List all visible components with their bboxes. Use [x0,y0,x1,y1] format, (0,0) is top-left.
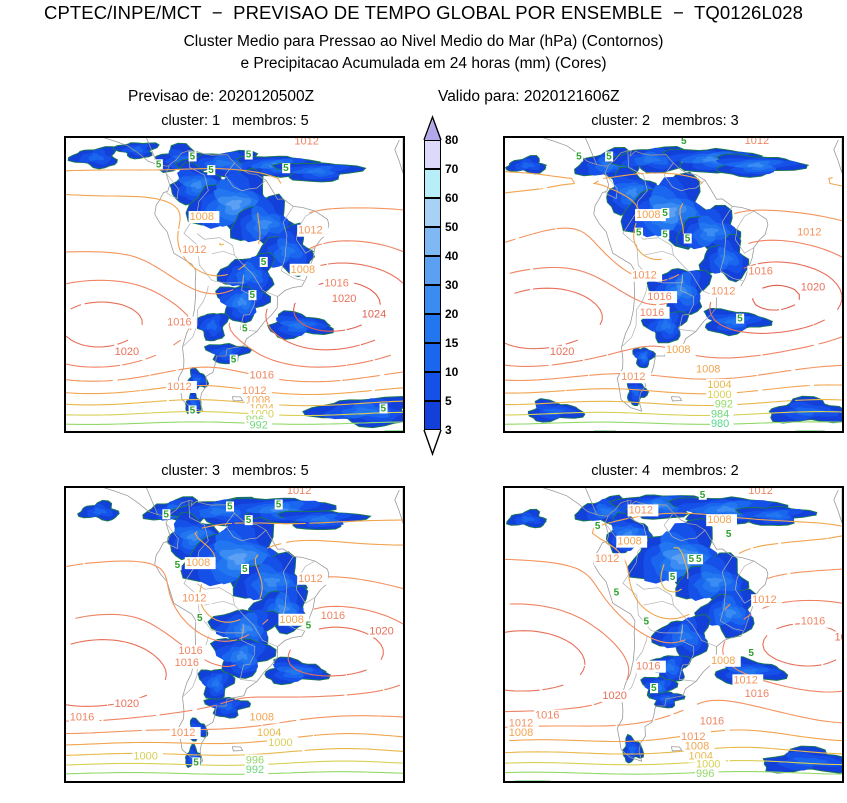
lon-tick-100W: 100W [513,782,535,783]
lon-tick-90W: 90W [552,782,570,783]
svg-text:1012: 1012 [294,138,318,147]
lon-tick-mark [636,781,637,783]
colorbar-band-15 [424,314,441,343]
lat-tick-mark [503,275,505,276]
svg-text:1012: 1012 [595,553,619,565]
lat-tick-mark [64,527,66,528]
lat-tick-mark [64,372,66,373]
lon-tick-80W: 80W [590,432,608,433]
lon-tick-30W: 30W [777,432,795,433]
svg-text:5: 5 [685,234,691,245]
lon-tick-mark [85,431,86,433]
lat-tick-mark [64,566,66,567]
svg-text:1016: 1016 [178,645,202,657]
svg-text:1012: 1012 [171,727,195,739]
panel-title-cluster-3: cluster: 3 membros: 5 [60,463,410,479]
lat-tick-mark [64,683,66,684]
lat-tick-mark [64,722,66,723]
svg-text:1016: 1016 [700,715,724,727]
lat-tick-mark [64,625,66,626]
lat-tick-mark [64,703,66,704]
lon-tick-50W: 50W [263,432,281,433]
map-graphics-cluster-2: 1012100810121012101610161016102010201008… [505,138,842,431]
lat-tick-mark [64,605,66,606]
svg-text:5: 5 [576,151,582,162]
lon-tick-mark [347,781,348,783]
svg-text:5: 5 [606,151,612,162]
colorbar-band-60 [424,169,441,198]
precipitation-colorbar: 35101520304050607080 [424,140,441,430]
colorbar-edge-left [424,140,425,430]
svg-text:1020: 1020 [115,346,139,358]
lon-tick-90W: 90W [113,432,131,433]
lat-tick-mark [64,392,66,393]
lon-tick-20W: 20W [375,782,393,783]
lat-tick-mark [64,781,66,782]
svg-text:5: 5 [381,403,387,414]
colorbar-band-3 [424,401,441,430]
lon-tick-mark [674,431,675,433]
valid-for-label: Valido para: 2020121606Z [438,88,620,106]
colorbar-band-50 [424,198,441,227]
svg-text:5: 5 [208,165,214,176]
precipitation-shading [506,147,843,424]
lat-tick-mark [64,333,66,334]
lon-tick-100W: 100W [513,432,535,433]
lon-tick-mark [524,431,525,433]
subtitle-line-2: e Precipitacao Acumulada em 24 horas (mm… [0,55,847,73]
svg-text:5: 5 [249,290,255,301]
svg-text:5: 5 [700,490,706,501]
lat-tick-mark [64,761,66,762]
map-panel-cluster-2[interactable]: 1012100810121012101610161016102010201008… [503,136,844,433]
colorbar-under-arrow [425,430,441,453]
svg-text:5: 5 [227,501,233,512]
map-panel-cluster-3[interactable]: 1012100810121012100810161020101610161020… [64,486,405,783]
lat-tick-mark [503,216,505,217]
svg-text:1012: 1012 [711,285,735,297]
lat-tick-mark [503,664,505,665]
svg-text:1008: 1008 [666,344,690,356]
lon-tick-mark [347,431,348,433]
svg-text:5: 5 [748,648,754,659]
lon-tick-mark [561,431,562,433]
lon-tick-mark [599,431,600,433]
lon-tick-80W: 80W [151,432,169,433]
lon-tick-mark [235,431,236,433]
svg-text:1016: 1016 [748,266,772,278]
svg-text:5: 5 [283,163,289,174]
svg-text:5: 5 [156,159,162,170]
svg-text:1008: 1008 [636,209,660,221]
svg-text:5: 5 [614,587,620,598]
colorbar-label-40: 40 [445,249,458,263]
lat-tick-mark [503,294,505,295]
panel-title-cluster-1: cluster: 1 membros: 5 [60,113,410,129]
svg-text:5: 5 [306,621,312,632]
lon-tick-20W: 20W [814,432,832,433]
lon-tick-40W: 40W [740,432,758,433]
lon-tick-40W: 40W [301,782,319,783]
svg-text:1020: 1020 [332,293,356,305]
svg-text:1016: 1016 [324,277,348,289]
lon-tick-mark [599,781,600,783]
lon-tick-60W: 60W [665,432,683,433]
svg-text:1008: 1008 [696,363,720,375]
lat-tick-mark [503,547,505,548]
svg-text:1012: 1012 [298,573,322,585]
svg-text:5: 5 [242,564,248,575]
lat-tick-mark [64,488,66,489]
lon-tick-mark [197,431,198,433]
svg-text:1008: 1008 [186,557,210,569]
svg-text:1012: 1012 [621,371,645,383]
lat-tick-mark [503,177,505,178]
lat-tick-mark [64,547,66,548]
svg-text:1012: 1012 [287,488,311,497]
lon-tick-mark [636,431,637,433]
map-graphics-cluster-4: 1012101210081008101210121016102010161008… [505,488,842,781]
lat-tick-mark [64,177,66,178]
svg-text:1012: 1012 [752,594,776,606]
lat-tick-mark [503,703,505,704]
lat-tick-mark [503,158,505,159]
lon-tick-50W: 50W [702,432,720,433]
forecast-from-label: Previsao de: 2020120500Z [128,88,314,106]
subtitle-line-1: Cluster Medio para Pressao ao Nivel Medi… [0,33,847,51]
svg-text:5: 5 [261,257,267,268]
svg-text:1012: 1012 [733,674,757,686]
lat-tick-mark [503,761,505,762]
svg-text:1016: 1016 [535,709,559,721]
colorbar-label-50: 50 [445,220,458,234]
lon-tick-60W: 60W [226,782,244,783]
svg-text:5: 5 [670,572,676,583]
lat-tick-mark [503,138,505,139]
svg-text:1016: 1016 [167,317,191,329]
precipitation-shading [507,495,843,773]
svg-text:1008: 1008 [291,264,315,276]
svg-text:980: 980 [711,418,729,430]
lon-tick-70W: 70W [627,432,645,433]
lat-tick-mark [64,255,66,256]
svg-text:1008: 1008 [249,711,273,723]
svg-text:1020: 1020 [801,281,825,293]
lat-tick-mark [503,314,505,315]
lat-tick-mark [503,431,505,432]
lat-tick-mark [503,781,505,782]
svg-text:5: 5 [644,617,650,628]
lat-tick-mark [503,644,505,645]
lon-tick-mark [272,431,273,433]
colorbar-edge-right [440,140,441,430]
svg-text:1020: 1020 [369,626,393,638]
colorbar-label-3: 3 [445,423,452,437]
lat-tick-mark [64,236,66,237]
lon-tick-30W: 30W [338,782,356,783]
lat-tick-mark [503,392,505,393]
lat-tick-mark [64,508,66,509]
svg-text:1012: 1012 [298,225,322,237]
lon-tick-mark [384,781,385,783]
colorbar-label-30: 30 [445,278,458,292]
svg-text:1012: 1012 [632,270,656,282]
lon-tick-mark [122,431,123,433]
svg-text:1020: 1020 [115,698,139,710]
lon-tick-mark [309,431,310,433]
lon-tick-mark [197,781,198,783]
lat-tick-mark [64,411,66,412]
lat-tick-mark [503,527,505,528]
lon-tick-mark [384,431,385,433]
lon-tick-40W: 40W [740,782,758,783]
lon-tick-100W: 100W [74,782,96,783]
svg-text:1012: 1012 [797,227,821,239]
lon-tick-90W: 90W [552,432,570,433]
svg-text:5: 5 [246,150,252,161]
lat-tick-mark [64,138,66,139]
colorbar-label-5: 5 [445,394,452,408]
svg-text:1016: 1016 [249,369,273,381]
lon-tick-30W: 30W [338,432,356,433]
lat-tick-mark [64,275,66,276]
lon-tick-80W: 80W [151,782,169,783]
svg-text:992: 992 [246,764,264,776]
lat-tick-mark [503,742,505,743]
precipitation-shading [78,497,371,768]
colorbar-label-20: 20 [445,307,458,321]
svg-text:5: 5 [276,500,282,511]
colorbar-label-70: 70 [445,162,458,176]
svg-text:5: 5 [197,613,203,624]
svg-text:1008: 1008 [707,514,731,526]
lat-tick-mark [64,216,66,217]
lon-tick-50W: 50W [702,782,720,783]
svg-text:1012: 1012 [182,244,206,256]
colorbar-label-60: 60 [445,191,458,205]
svg-text:5: 5 [163,509,169,520]
lon-tick-mark [711,431,712,433]
lon-tick-20W: 20W [375,432,393,433]
svg-text:1020: 1020 [602,690,626,702]
svg-text:1024: 1024 [362,309,386,321]
svg-text:5: 5 [595,521,601,532]
colorbar-band-10 [424,343,441,372]
svg-text:5: 5 [726,529,732,540]
lon-tick-80W: 80W [590,782,608,783]
svg-text:1008: 1008 [617,536,641,548]
lat-tick-mark [503,488,505,489]
svg-text:1008: 1008 [279,614,303,626]
lon-tick-90W: 90W [113,782,131,783]
lon-tick-60W: 60W [226,432,244,433]
lon-tick-mark [272,781,273,783]
svg-text:1016: 1016 [636,661,660,673]
svg-text:5: 5 [737,314,743,325]
svg-text:1008: 1008 [509,727,533,739]
svg-text:1008: 1008 [190,211,214,223]
svg-text:5: 5 [175,560,181,571]
svg-text:1012: 1012 [748,488,772,497]
page-title: CPTEC/INPE/MCT − PREVISAO DE TEMPO GLOBA… [0,2,847,24]
svg-text:1016: 1016 [801,616,825,628]
lon-tick-mark [85,781,86,783]
svg-text:1000: 1000 [268,737,292,749]
map-panel-cluster-4[interactable]: 1012101210081008101210121016102010161008… [503,486,844,783]
lat-tick-mark [503,722,505,723]
lon-tick-40W: 40W [301,432,319,433]
map-graphics-cluster-3: 1012100810121012100810161020101610161020… [66,488,403,781]
svg-text:5: 5 [246,515,252,526]
svg-text:1016: 1016 [640,307,664,319]
svg-text:1012: 1012 [629,504,653,516]
lat-tick-mark [64,158,66,159]
colorbar-band-20 [424,285,441,314]
panel-title-cluster-4: cluster: 4 membros: 2 [490,463,840,479]
svg-text:1016: 1016 [70,711,94,723]
svg-text:1016: 1016 [647,291,671,303]
lon-tick-mark [786,781,787,783]
svg-text:1008: 1008 [711,655,735,667]
lon-tick-mark [823,431,824,433]
lon-tick-100W: 100W [74,432,96,433]
lon-tick-mark [561,781,562,783]
colorbar-label-80: 80 [445,133,458,147]
lat-tick-mark [64,586,66,587]
svg-text:5: 5 [681,138,687,147]
lat-tick-mark [503,255,505,256]
lon-tick-70W: 70W [188,782,206,783]
lon-tick-mark [309,781,310,783]
lon-tick-mark [160,781,161,783]
lat-tick-mark [503,683,505,684]
lon-tick-60W: 60W [665,782,683,783]
svg-text:1000: 1000 [133,751,157,763]
lat-tick-mark [503,566,505,567]
lon-tick-mark [711,781,712,783]
map-panel-cluster-1[interactable]: 1012100810121012100810161020102410161020… [64,136,405,433]
lat-tick-mark [64,742,66,743]
colorbar-band-70 [424,140,441,169]
lat-tick-mark [503,333,505,334]
svg-text:5: 5 [662,208,668,219]
lat-tick-mark [503,605,505,606]
svg-text:5: 5 [190,151,196,162]
lat-tick-mark [64,353,66,354]
svg-text:5: 5 [688,554,694,565]
svg-text:5: 5 [231,355,237,366]
svg-text:5: 5 [193,757,199,768]
colorbar-label-15: 15 [445,336,458,350]
lat-tick-mark [64,644,66,645]
lat-tick-mark [64,294,66,295]
colorbar-over-arrow-outline [424,118,442,140]
svg-text:1012: 1012 [745,138,769,147]
colorbar-label-10: 10 [445,365,458,379]
lon-tick-70W: 70W [627,782,645,783]
svg-text:5: 5 [651,683,657,694]
svg-text:1016: 1016 [175,657,199,669]
lat-tick-mark [503,236,505,237]
lon-tick-mark [524,781,525,783]
lat-tick-mark [503,586,505,587]
lon-tick-mark [748,431,749,433]
svg-text:1020: 1020 [835,631,842,643]
lat-tick-mark [503,625,505,626]
svg-text:996: 996 [696,768,714,780]
colorbar-band-30 [424,256,441,285]
panel-title-cluster-2: cluster: 2 membros: 3 [490,113,840,129]
lat-tick-mark [503,353,505,354]
lat-tick-mark [503,197,505,198]
svg-text:5: 5 [636,228,642,239]
lat-tick-mark [503,508,505,509]
lon-tick-20W: 20W [814,782,832,783]
map-graphics-cluster-1: 1012100810121012100810161020102410161020… [66,138,403,431]
lat-tick-mark [503,372,505,373]
colorbar-band-40 [424,227,441,256]
lon-tick-mark [160,431,161,433]
svg-text:5: 5 [242,323,248,334]
lon-tick-mark [235,781,236,783]
svg-text:1020: 1020 [550,346,574,358]
svg-text:1016: 1016 [321,610,345,622]
svg-text:992: 992 [249,419,267,431]
lon-tick-mark [674,781,675,783]
lon-tick-50W: 50W [263,782,281,783]
lon-tick-mark [823,781,824,783]
lon-tick-70W: 70W [188,432,206,433]
lon-tick-mark [122,781,123,783]
svg-text:5: 5 [696,554,702,565]
lat-tick-mark [64,664,66,665]
colorbar-band-5 [424,372,441,401]
svg-text:1016: 1016 [745,688,769,700]
svg-text:1012: 1012 [167,381,191,393]
lon-tick-mark [786,431,787,433]
svg-text:5: 5 [190,405,196,416]
svg-text:1012: 1012 [182,592,206,604]
lat-tick-mark [64,314,66,315]
svg-text:5: 5 [662,230,668,241]
lat-tick-mark [64,197,66,198]
lat-tick-mark [64,431,66,432]
lon-tick-30W: 30W [777,782,795,783]
lon-tick-mark [748,781,749,783]
lat-tick-mark [503,411,505,412]
